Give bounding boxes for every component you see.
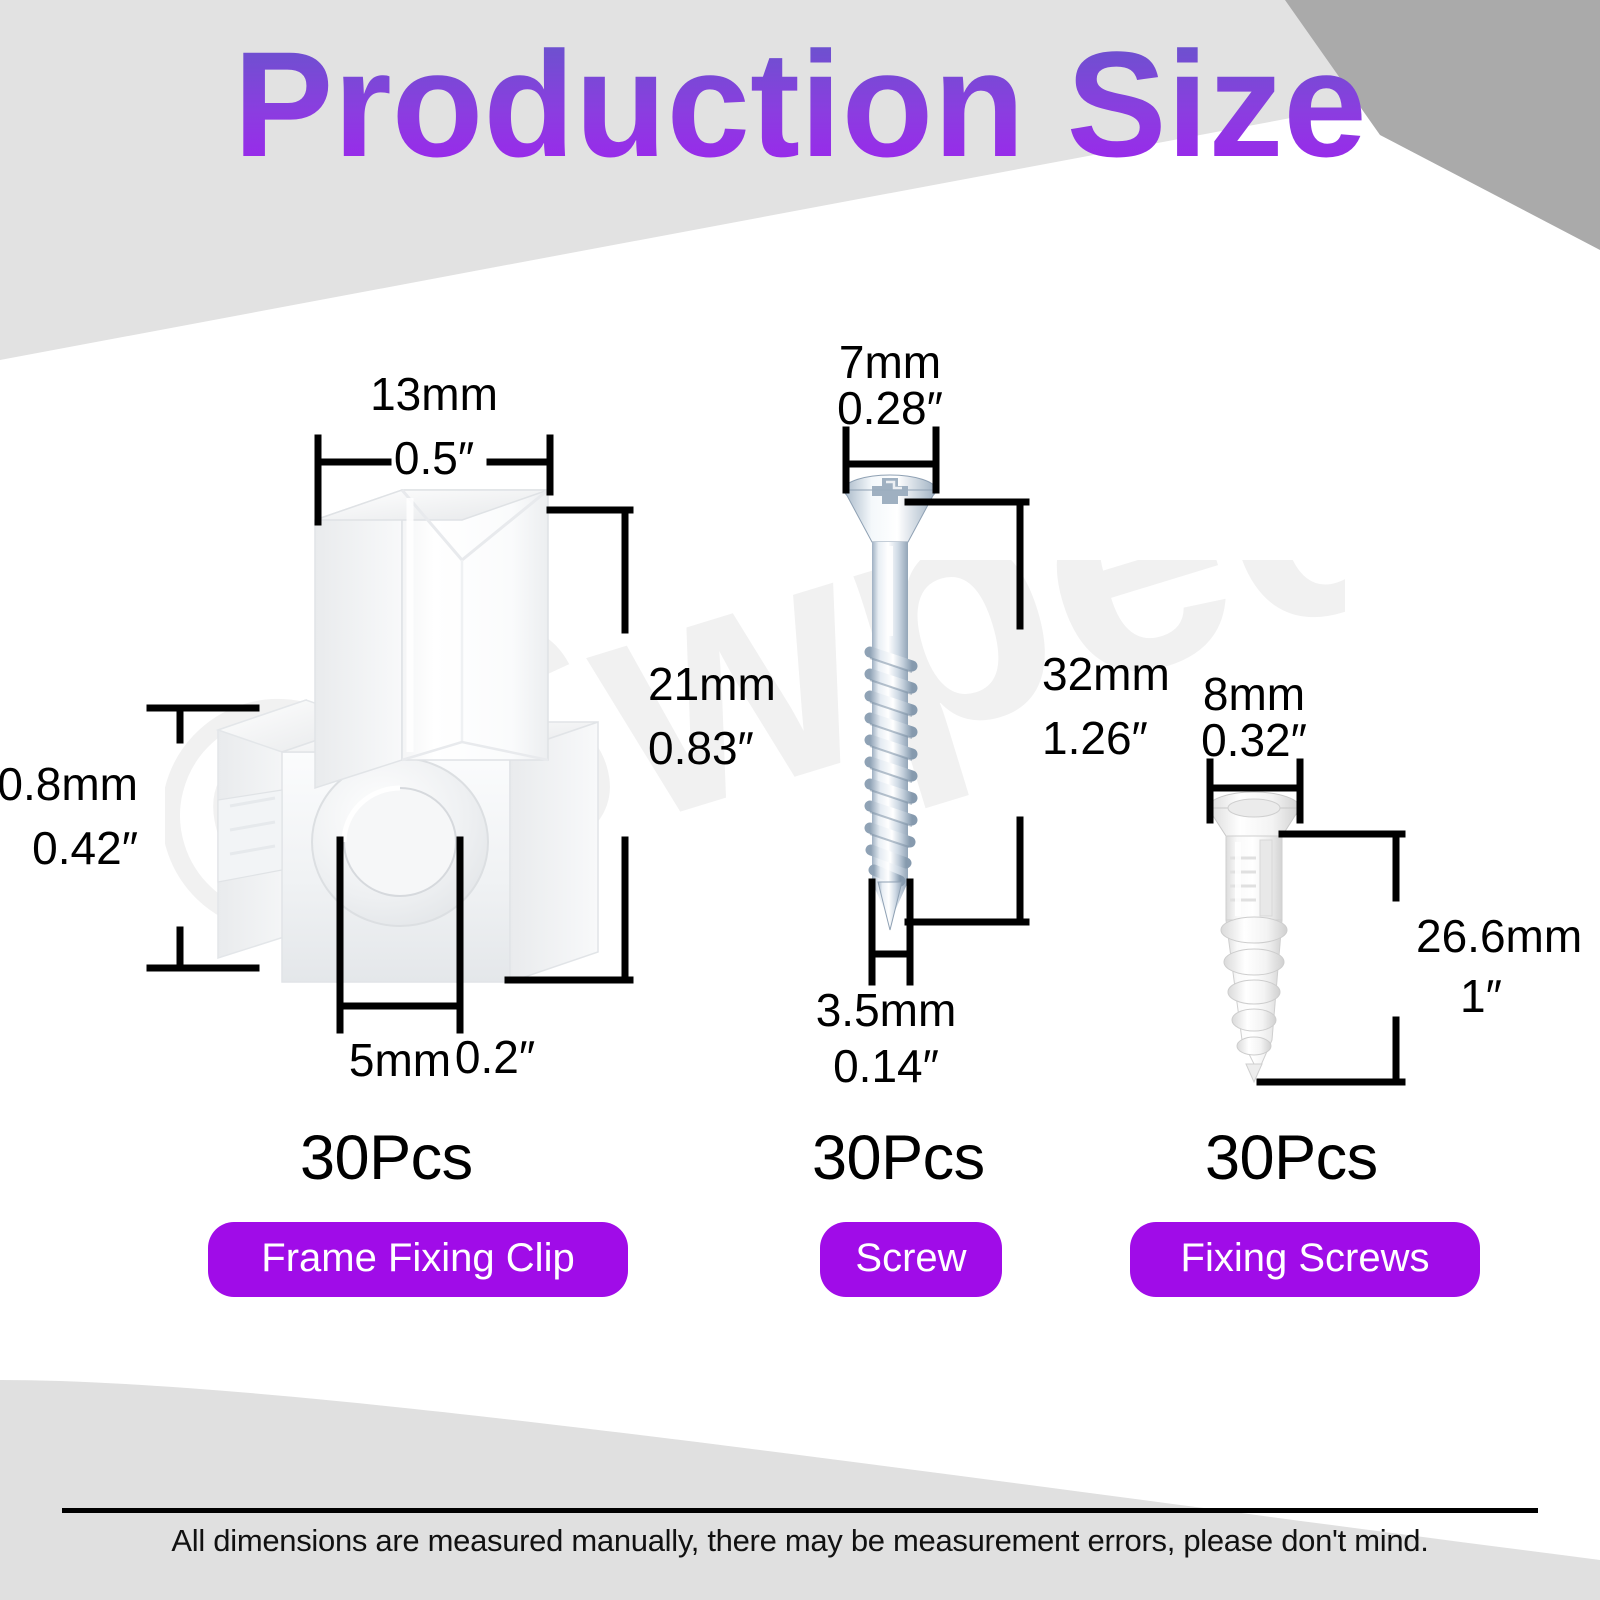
dim-height-inch: 0.83″: [648, 722, 754, 774]
footer: All dimensions are measured manually, th…: [62, 1508, 1538, 1559]
dim-anchor-head-mm: 8mm: [1203, 668, 1305, 720]
page-title-text: Production Size: [233, 24, 1366, 188]
dim-width-inch: 0.5″: [394, 432, 474, 484]
dim-length-inch: 1.26″: [1042, 712, 1148, 764]
dim-shaft-mm: 3.5mm: [816, 984, 957, 1036]
dim-height-mm: 21mm: [648, 658, 776, 710]
frame-fixing-clip-illustration: [218, 490, 598, 982]
dim-shaft-inch: 0.14″: [833, 1040, 939, 1092]
screw-illustration: [844, 475, 936, 930]
dim-anchor-length-inch: 1″: [1460, 970, 1502, 1022]
product-frame-fixing-clip: 13mm 0.5″ 21mm 0.83″ 10.8mm 0.42″ 5mm: [70, 370, 730, 1100]
quantity-frame-fixing-clip: 30Pcs: [300, 1122, 473, 1194]
quantity-screw: 30Pcs: [812, 1122, 985, 1194]
dim-anchor-head-inch: 0.32″: [1201, 714, 1307, 766]
dim-hole-inch: 0.2″: [330, 1030, 660, 1084]
footer-disclaimer: All dimensions are measured manually, th…: [62, 1523, 1538, 1559]
dim-width-mm: 13mm: [370, 368, 498, 420]
label-badge-fixing-screws[interactable]: Fixing Screws: [1130, 1222, 1480, 1297]
page-title: Production Size: [0, 24, 1600, 194]
dim-depth-mm: 10.8mm: [0, 758, 138, 810]
dim-head-inch: 0.28″: [837, 382, 943, 434]
dim-depth-inch: 0.42″: [32, 822, 138, 874]
dim-head-mm: 7mm: [839, 336, 941, 388]
label-badge-screw[interactable]: Screw: [820, 1222, 1002, 1297]
product-screw: 7mm 0.28″ 32mm 1.26″ 3.5mm 0.14″: [790, 430, 1150, 1070]
footer-divider: [62, 1508, 1538, 1513]
dim-anchor-length-mm: 26.6mm: [1416, 910, 1582, 962]
quantity-fixing-screws: 30Pcs: [1205, 1122, 1378, 1194]
dim-length-mm: 32mm: [1042, 648, 1170, 700]
product-fixing-screws: 8mm 0.32″ 26.6mm 1″: [1160, 620, 1580, 1100]
label-badge-frame-fixing-clip[interactable]: Frame Fixing Clip: [208, 1222, 628, 1297]
